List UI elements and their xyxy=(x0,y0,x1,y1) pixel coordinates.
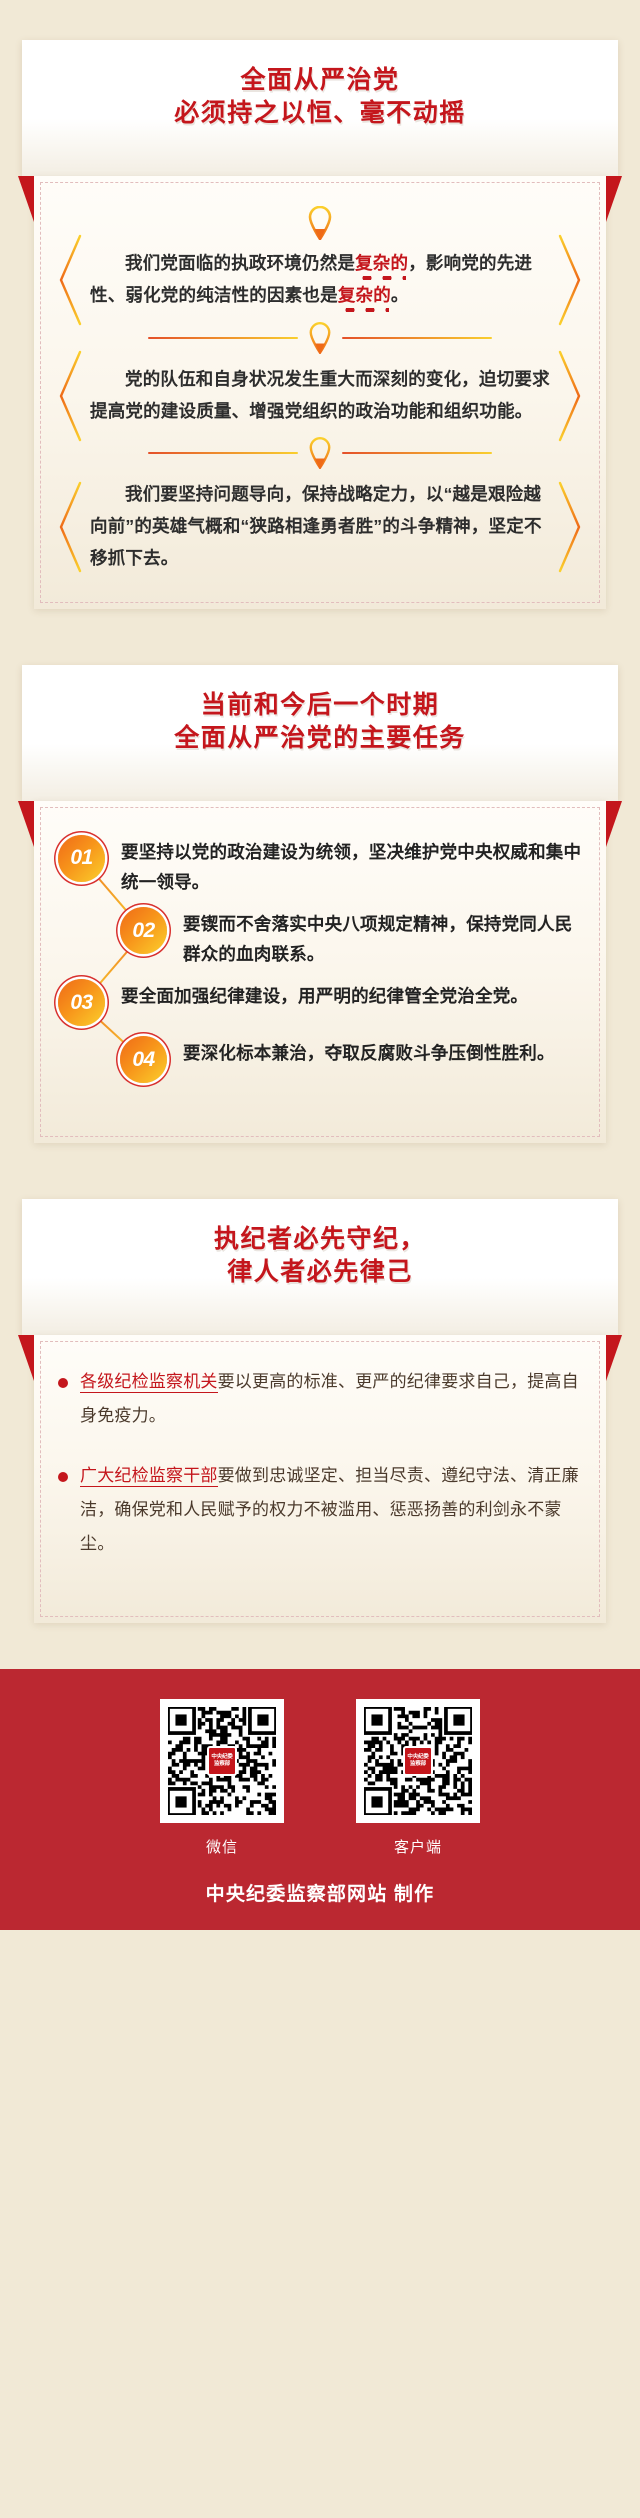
section-2-card: 当前和今后一个时期 全面从严治党的主要任务 全面从严治党的主要任务 xyxy=(22,665,618,801)
qr-code-image[interactable]: 中央纪委 监察部 xyxy=(160,1699,284,1823)
task-number-badge: 04 xyxy=(120,1036,167,1083)
qr-code-label: 微信 xyxy=(160,1836,284,1857)
emphasis-underlined-text: 各级纪检监察机关 xyxy=(80,1372,218,1393)
qr-center-logo: 中央纪委 监察部 xyxy=(403,1746,433,1776)
task-item: 01要坚持以党的政治建设为统领，坚决维护党中央权威和集中统一领导。 xyxy=(58,835,582,897)
section-1-body: 我们党面临的执政环境仍然是复杂的，影响党的先进性、弱化党的纯洁性的因素也是复杂的… xyxy=(34,176,606,609)
section-2-body: 01要坚持以党的政治建设为统领，坚决维护党中央权威和集中统一领导。02要锲而不舍… xyxy=(34,801,606,1143)
task-text: 要坚持以党的政治建设为统领，坚决维护党中央权威和集中统一领导。 xyxy=(121,835,582,897)
body-text-run: 我们党面临的执政环境仍然是 xyxy=(125,253,355,273)
ribbon-corner-right xyxy=(606,176,622,222)
task-number-badge: 03 xyxy=(58,979,105,1026)
map-pin-icon xyxy=(307,206,333,240)
section-3-title-line-1: 执纪者必先守纪， xyxy=(40,1223,600,1256)
quote-block: 我们党面临的执政环境仍然是复杂的，影响党的先进性、弱化党的纯洁性的因素也是复杂的… xyxy=(60,248,580,312)
qr-center-logo: 中央纪委 监察部 xyxy=(207,1746,237,1776)
section-1-card: 全面从严治党 必须持之以恒、毫不动摇 必须持之以恒、毫不动摇 xyxy=(22,40,618,176)
body-text-run: 党的队伍和自身状况发生重大而深刻的变化，迫切要求提高党的建设质量、增强党组织的政… xyxy=(90,369,550,421)
task-text: 要全面加强纪律建设，用严明的纪律管全党治全党。 xyxy=(121,979,528,1011)
task-number-badge: 02 xyxy=(120,907,167,954)
section-3-title-plate: 执纪者必先守纪， 律人者必先律己 律人者必先律己 xyxy=(22,1199,618,1335)
task-item: 03要全面加强纪律建设，用严明的纪律管全党治全党。 xyxy=(58,979,582,1026)
emphasis-dotted-text: 复杂的 xyxy=(338,285,391,305)
section-2-title-line-1: 当前和今后一个时期 xyxy=(40,689,600,722)
quote-block: 我们要坚持问题导向，保持战略定力，以“越是艰险越向前”的英雄气概和“狭路相逢勇者… xyxy=(60,479,580,575)
spacer-1 xyxy=(0,609,640,665)
section-3-card: 执纪者必先守纪， 律人者必先律己 律人者必先律己 xyxy=(22,1199,618,1335)
section-3-title-reflection: 律人者必先律己 xyxy=(40,1285,600,1311)
bullet-text: 广大纪检监察干部要做到忠诚坚定、担当尽责、遵纪守法、清正廉洁，确保党和人民赋予的… xyxy=(80,1459,582,1561)
section-3-body: 各级纪检监察机关要以更高的标准、更严的纪律要求自己，提高自身免疫力。广大纪检监察… xyxy=(34,1335,606,1623)
task-list: 01要坚持以党的政治建设为统领，坚决维护党中央权威和集中统一领导。02要锲而不舍… xyxy=(54,827,586,1103)
section-1-title-line-1: 全面从严治党 xyxy=(40,64,600,97)
task-item: 02要锲而不舍落实中央八项规定精神，保持党同人民群众的血肉联系。 xyxy=(120,907,582,969)
ribbon-corner-left-2 xyxy=(18,801,34,847)
chevron-left-bracket-icon xyxy=(58,481,84,573)
footer: 中央纪委 监察部微信中央纪委 监察部客户端 中央纪委监察部网站 制作 xyxy=(0,1669,640,1930)
divider-rule-right xyxy=(342,452,492,454)
section-1-title-reflection: 必须持之以恒、毫不动摇 xyxy=(40,126,600,152)
section-1-top-pin xyxy=(60,206,580,248)
section-3-body-wrap: 各级纪检监察机关要以更高的标准、更严的纪律要求自己，提高自身免疫力。广大纪检监察… xyxy=(34,1335,606,1623)
quote-text: 我们要坚持问题导向，保持战略定力，以“越是艰险越向前”的英雄气概和“狭路相逢勇者… xyxy=(90,479,550,575)
section-1-title-plate: 全面从严治党 必须持之以恒、毫不动摇 必须持之以恒、毫不动摇 xyxy=(22,40,618,176)
map-pin-icon xyxy=(308,322,332,354)
ribbon-corner-left-3 xyxy=(18,1335,34,1381)
emphasis-underlined-text: 广大纪检监察干部 xyxy=(80,1466,218,1487)
discipline-bullets: 各级纪检监察机关要以更高的标准、更严的纪律要求自己，提高自身免疫力。广大纪检监察… xyxy=(58,1365,582,1561)
body-text-run: 。 xyxy=(391,285,409,305)
section-2-body-wrap: 01要坚持以党的政治建设为统领，坚决维护党中央权威和集中统一领导。02要锲而不舍… xyxy=(34,801,606,1143)
task-number-badge: 01 xyxy=(58,835,105,882)
bullet-item: 广大纪检监察干部要做到忠诚坚定、担当尽责、遵纪守法、清正廉洁，确保党和人民赋予的… xyxy=(58,1459,582,1561)
quote-text: 党的队伍和自身状况发生重大而深刻的变化，迫切要求提高党的建设质量、增强党组织的政… xyxy=(90,364,550,428)
chevron-right-bracket-icon xyxy=(556,481,582,573)
divider-rule-right xyxy=(342,337,492,339)
infographic-poster: 全面从严治党 必须持之以恒、毫不动摇 必须持之以恒、毫不动摇 xyxy=(0,0,640,2518)
task-text: 要锲而不舍落实中央八项规定精神，保持党同人民群众的血肉联系。 xyxy=(183,907,582,969)
section-1-quotes: 我们党面临的执政环境仍然是复杂的，影响党的先进性、弱化党的纯洁性的因素也是复杂的… xyxy=(60,248,580,575)
task-item: 04要深化标本兼治，夺取反腐败斗争压倒性胜利。 xyxy=(120,1036,582,1083)
footer-credit: 中央纪委监察部网站 制作 xyxy=(0,1879,640,1906)
divider-rule-left xyxy=(148,337,298,339)
ribbon-corner-left xyxy=(18,176,34,222)
top-spacer xyxy=(0,0,640,40)
qr-code-column: 中央纪委 监察部微信 xyxy=(160,1699,284,1857)
qr-code-label: 客户端 xyxy=(356,1836,480,1857)
qr-code-column: 中央纪委 监察部客户端 xyxy=(356,1699,480,1857)
qr-code-group: 中央纪委 监察部微信中央纪委 监察部客户端 xyxy=(0,1699,640,1857)
pin-divider xyxy=(60,427,580,479)
bullet-text: 各级纪检监察机关要以更高的标准、更严的纪律要求自己，提高自身免疫力。 xyxy=(80,1365,582,1433)
divider-rule-left xyxy=(148,452,298,454)
body-text-run: 我们要坚持问题导向，保持战略定力，以“越是艰险越向前”的英雄气概和“狭路相逢勇者… xyxy=(90,484,542,568)
ribbon-corner-right-2 xyxy=(606,801,622,847)
bullet-dot-icon xyxy=(58,1378,68,1388)
spacer-2 xyxy=(0,1143,640,1199)
ribbon-corner-right-3 xyxy=(606,1335,622,1381)
emphasis-dotted-text: 复杂的 xyxy=(355,253,408,273)
quote-block: 党的队伍和自身状况发生重大而深刻的变化，迫切要求提高党的建设质量、增强党组织的政… xyxy=(60,364,580,428)
section-2-title-reflection: 全面从严治党的主要任务 xyxy=(40,751,600,777)
quote-text: 我们党面临的执政环境仍然是复杂的，影响党的先进性、弱化党的纯洁性的因素也是复杂的… xyxy=(90,248,550,312)
map-pin-icon xyxy=(308,437,332,469)
qr-code-image[interactable]: 中央纪委 监察部 xyxy=(356,1699,480,1823)
bullet-item: 各级纪检监察机关要以更高的标准、更严的纪律要求自己，提高自身免疫力。 xyxy=(58,1365,582,1433)
bullet-dot-icon xyxy=(58,1472,68,1482)
task-text: 要深化标本兼治，夺取反腐败斗争压倒性胜利。 xyxy=(183,1036,555,1068)
section-2-title-plate: 当前和今后一个时期 全面从严治党的主要任务 全面从严治党的主要任务 xyxy=(22,665,618,801)
section-1-body-wrap: 我们党面临的执政环境仍然是复杂的，影响党的先进性、弱化党的纯洁性的因素也是复杂的… xyxy=(34,176,606,609)
pin-divider xyxy=(60,312,580,364)
